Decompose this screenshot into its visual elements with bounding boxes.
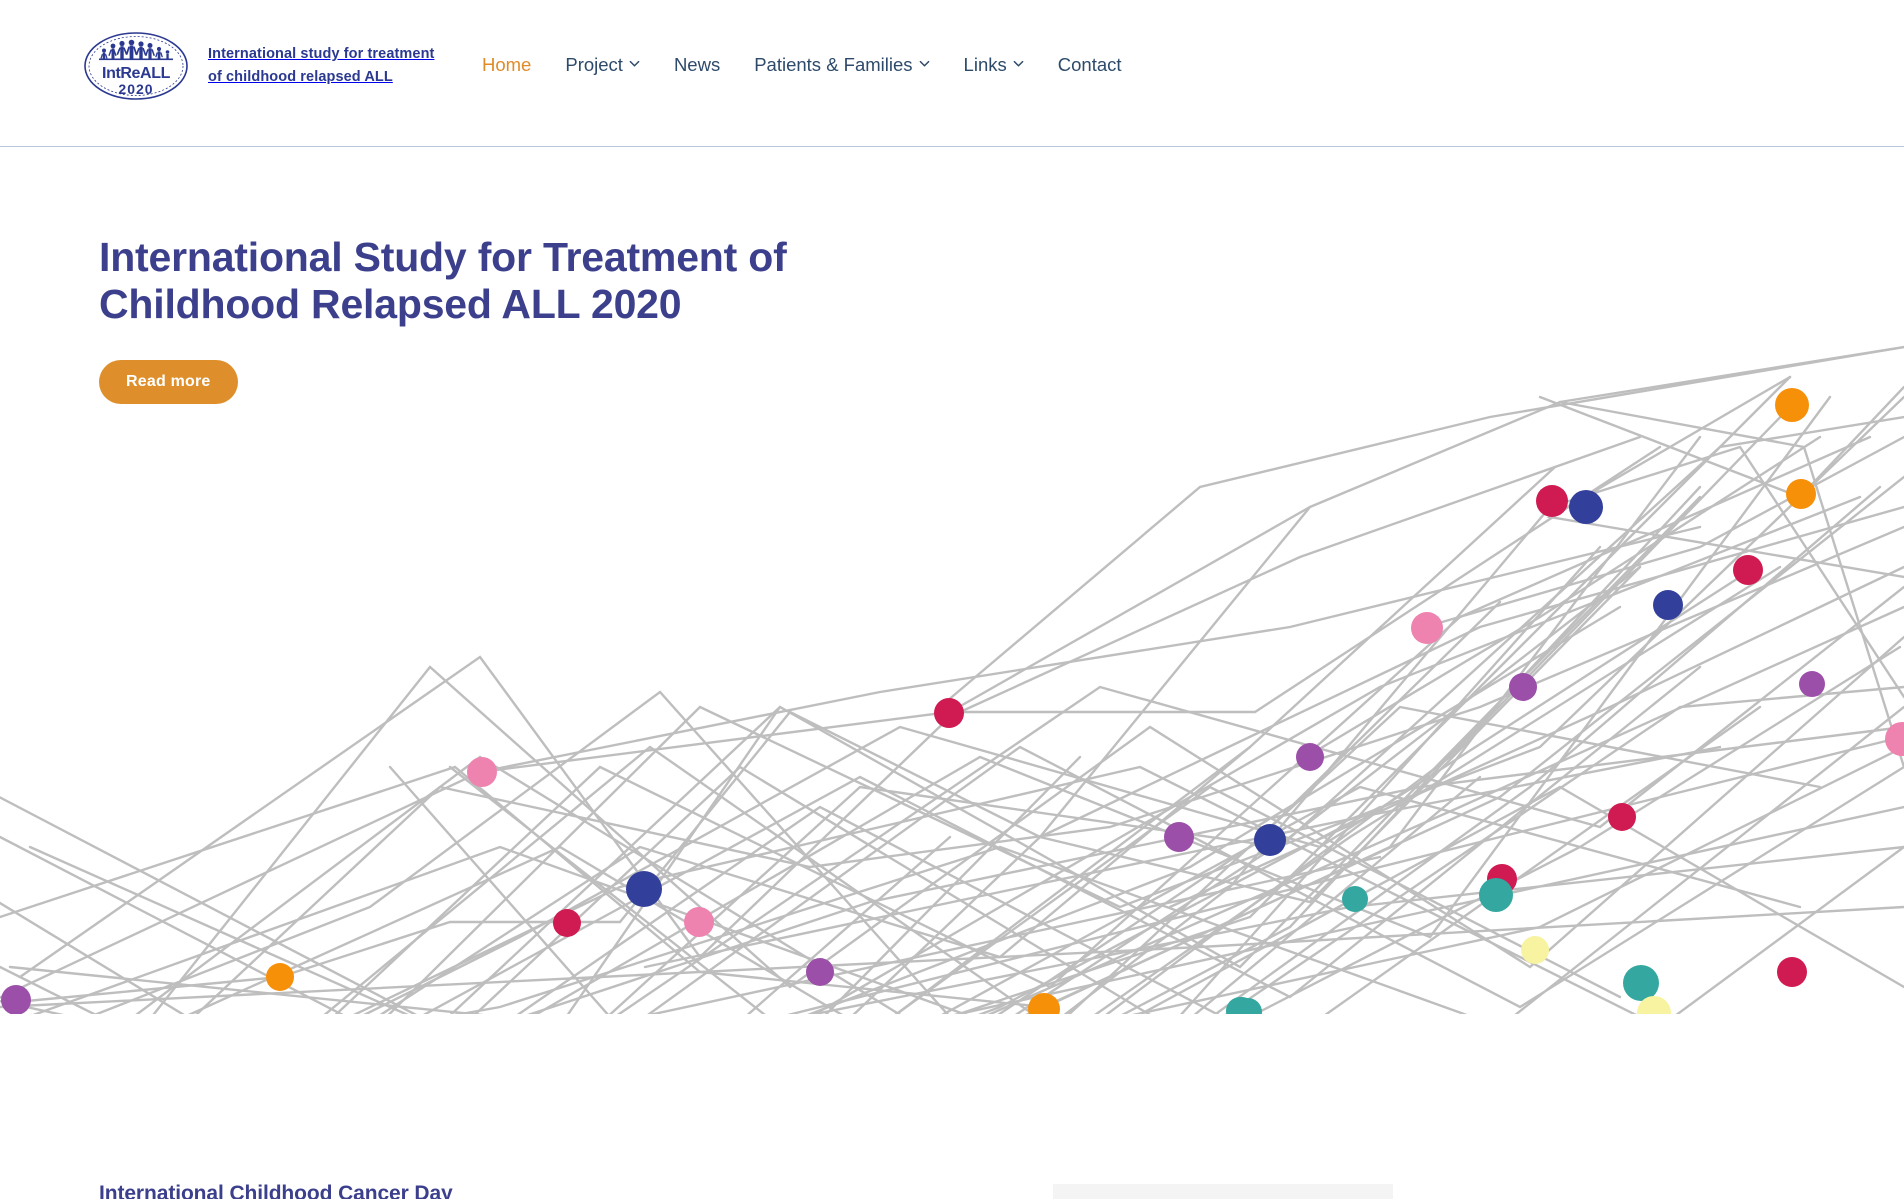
nav-item-label: Links [964, 56, 1007, 75]
hero-section: International Study for Treatment of Chi… [0, 147, 1904, 1014]
nav-item-label: Patients & Families [754, 56, 912, 75]
intreall-logo-icon: IntReALL 2020 [82, 30, 190, 102]
nav-item-links[interactable]: Links [947, 56, 1041, 75]
nav-item-label: Home [482, 56, 531, 75]
nav-item-contact[interactable]: Contact [1041, 56, 1139, 75]
page-title: International Study for Treatment of Chi… [99, 234, 959, 328]
nav-item-project[interactable]: Project [548, 56, 657, 75]
chevron-down-icon [629, 58, 640, 69]
read-more-button[interactable]: Read more [99, 360, 238, 404]
nav-item-news[interactable]: News [657, 56, 737, 75]
chevron-down-icon [919, 58, 930, 69]
nav-item-home[interactable]: Home [482, 56, 548, 75]
hero-copy: International Study for Treatment of Chi… [99, 234, 959, 404]
svg-text:IntReALL: IntReALL [102, 65, 171, 82]
site-header: IntReALL 2020 International study for tr… [0, 0, 1904, 147]
brand-tagline: International study for treatment of chi… [208, 43, 434, 89]
main-navigation: Home Project News Patients & Families Li… [482, 56, 1139, 75]
nav-item-label: Contact [1058, 56, 1122, 75]
svg-text:2020: 2020 [118, 81, 153, 97]
brand-logo-link[interactable]: IntReALL 2020 International study for tr… [82, 30, 434, 102]
news-card[interactable] [1053, 1184, 1393, 1199]
nav-item-label: Project [565, 56, 623, 75]
news-section: International Childhood Cancer Day [0, 1014, 1904, 1199]
nav-item-label: News [674, 56, 720, 75]
nav-item-patients-families[interactable]: Patients & Families [737, 56, 946, 75]
chevron-down-icon [1013, 58, 1024, 69]
news-heading[interactable]: International Childhood Cancer Day [99, 1182, 453, 1199]
